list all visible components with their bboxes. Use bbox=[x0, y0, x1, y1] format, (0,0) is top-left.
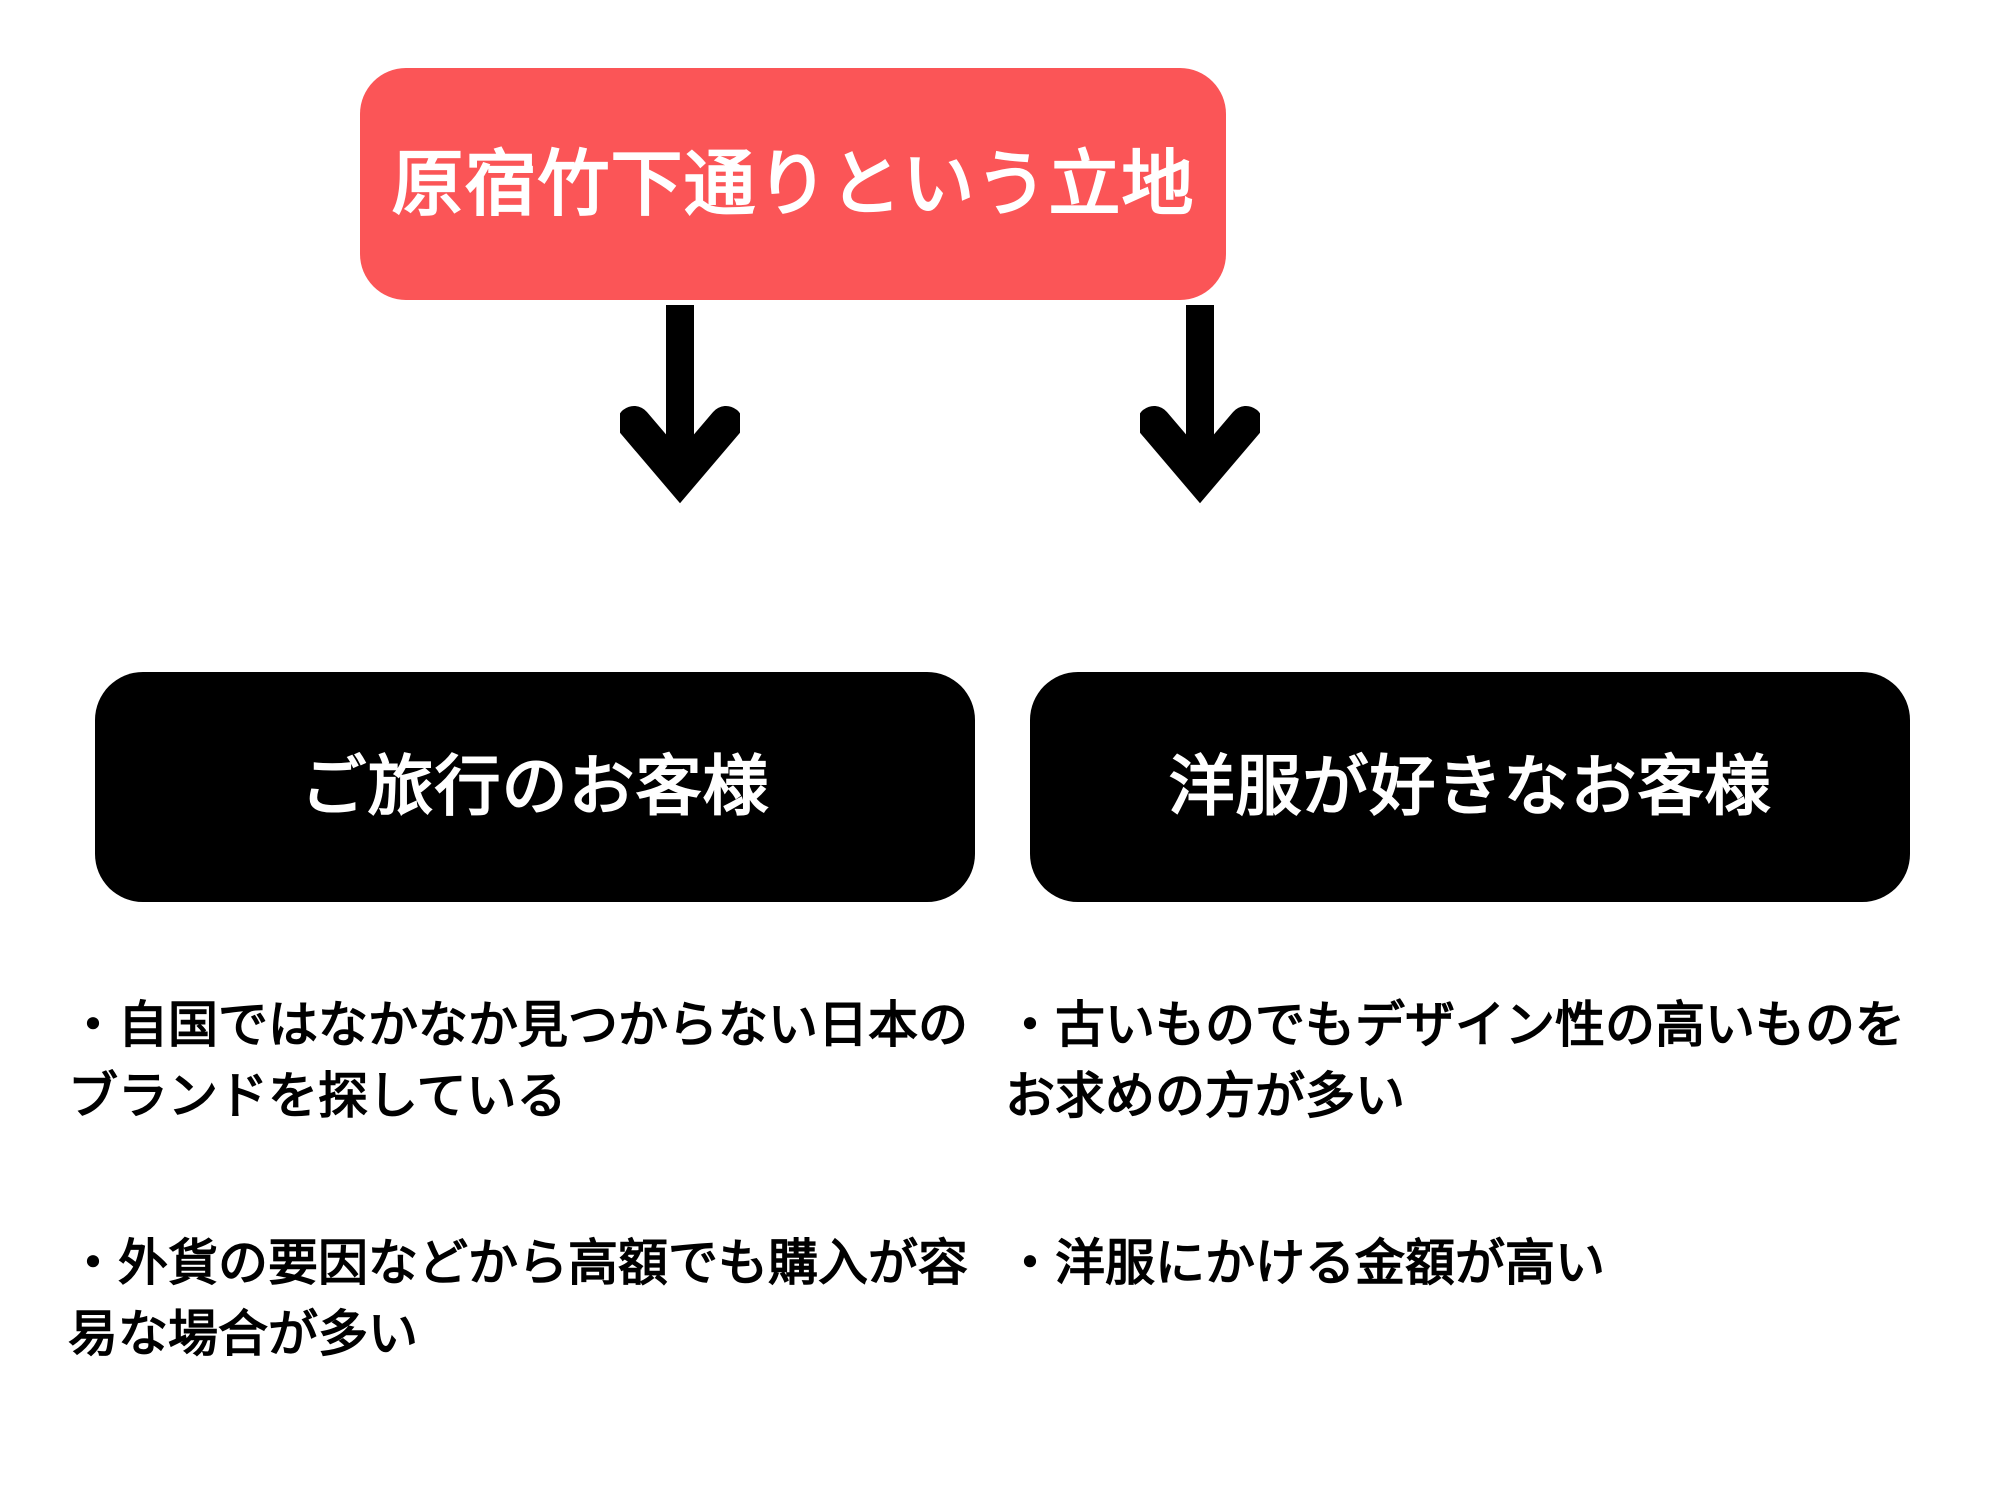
bullet-list-travelers: ・自国ではなかなか見つからない日本のブランドを探している ・外貨の要因などから高… bbox=[68, 990, 978, 1370]
root-node-label: 原宿竹下通りという立地 bbox=[391, 148, 1194, 220]
branch-node-travelers: ご旅行のお客様 bbox=[95, 672, 975, 902]
root-node-location: 原宿竹下通りという立地 bbox=[360, 68, 1226, 300]
bullet-item: ・洋服にかける金額が高い bbox=[1005, 1228, 1940, 1299]
arrow-down-right-icon bbox=[1140, 305, 1260, 505]
bullet-item: ・古いものでもデザイン性の高いものをお求めの方が多い bbox=[1005, 990, 1940, 1132]
arrow-down-left-icon bbox=[620, 305, 740, 505]
bullet-list-fashion-lovers: ・古いものでもデザイン性の高いものをお求めの方が多い ・洋服にかける金額が高い bbox=[1005, 990, 1940, 1299]
bullet-item: ・外貨の要因などから高額でも購入が容易な場合が多い bbox=[68, 1228, 978, 1370]
branch-node-travelers-label: ご旅行のお客様 bbox=[301, 754, 770, 820]
branch-node-fashion-lovers: 洋服が好きなお客様 bbox=[1030, 672, 1910, 902]
branch-node-fashion-lovers-label: 洋服が好きなお客様 bbox=[1169, 754, 1772, 820]
bullet-item: ・自国ではなかなか見つからない日本のブランドを探している bbox=[68, 990, 978, 1132]
